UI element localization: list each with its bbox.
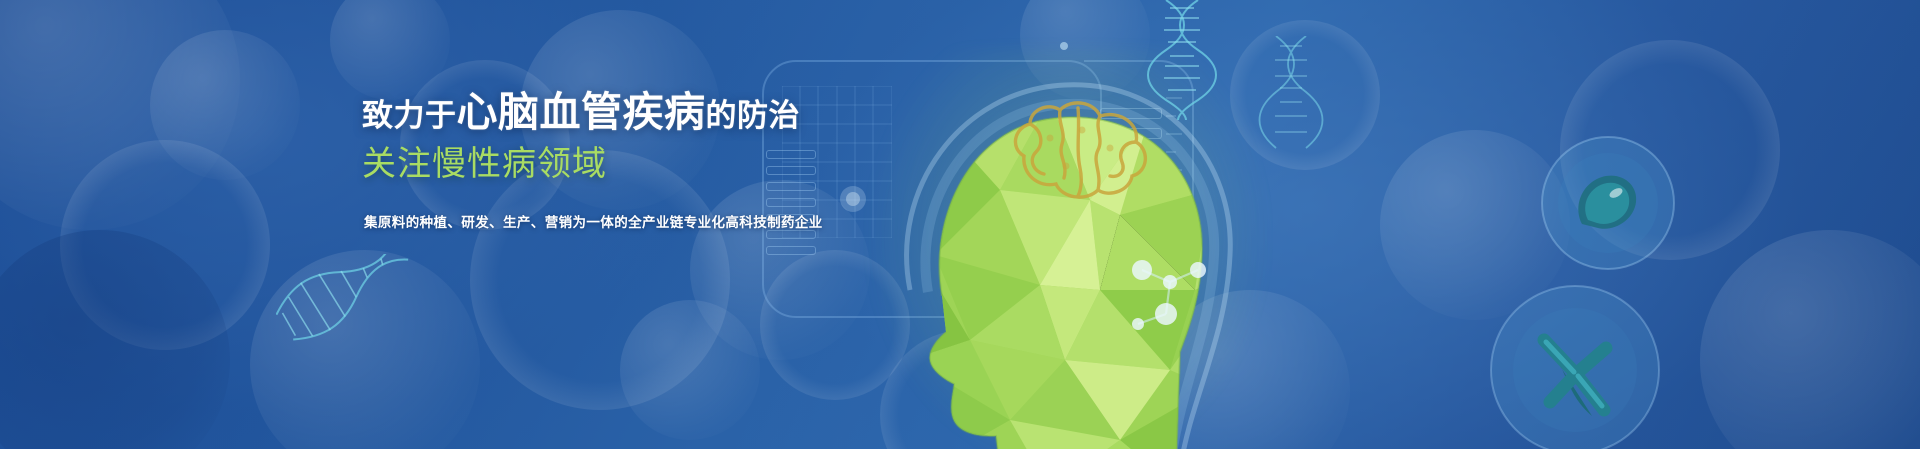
headline-lead: 致力于 (362, 98, 457, 133)
brain-icon (1000, 90, 1160, 210)
bokeh-circle (60, 140, 270, 350)
page-tagline: 集原料的种植、研发、生产、营销为一体的全产业链专业化高科技制药企业 (364, 211, 922, 231)
page-subtitle: 关注慢性病领域 (362, 147, 922, 183)
sparkle-icon (1052, 34, 1076, 58)
headline-emphasis: 心脑血管疾病 (457, 89, 706, 135)
hero-banner: 致力于心脑血管疾病的防治 关注慢性病领域 集原料的种植、研发、生产、营销为一体的… (0, 0, 1920, 449)
bokeh-circle (250, 250, 480, 449)
bokeh-circle (0, 0, 240, 230)
dna-helix-bottom-left (276, 254, 426, 364)
bokeh-circle (330, 0, 450, 100)
page-title: 致力于心脑血管疾病的防治 (362, 92, 922, 133)
cell-icon-top-right (1528, 128, 1688, 278)
bokeh-circle (1700, 230, 1920, 449)
bokeh-circle (150, 30, 300, 180)
banner-copy: 致力于心脑血管疾病的防治 关注慢性病领域 集原料的种植、研发、生产、营销为一体的… (362, 92, 922, 231)
bokeh-circle (1560, 40, 1780, 260)
hud-bar (766, 246, 816, 255)
hud-bar (766, 230, 816, 239)
cell-icon-bottom-right (1480, 278, 1670, 449)
bokeh-circle (0, 230, 230, 449)
bokeh-circle (1380, 130, 1570, 320)
headline-trail: 的防治 (706, 98, 801, 133)
bokeh-circle (620, 300, 760, 440)
